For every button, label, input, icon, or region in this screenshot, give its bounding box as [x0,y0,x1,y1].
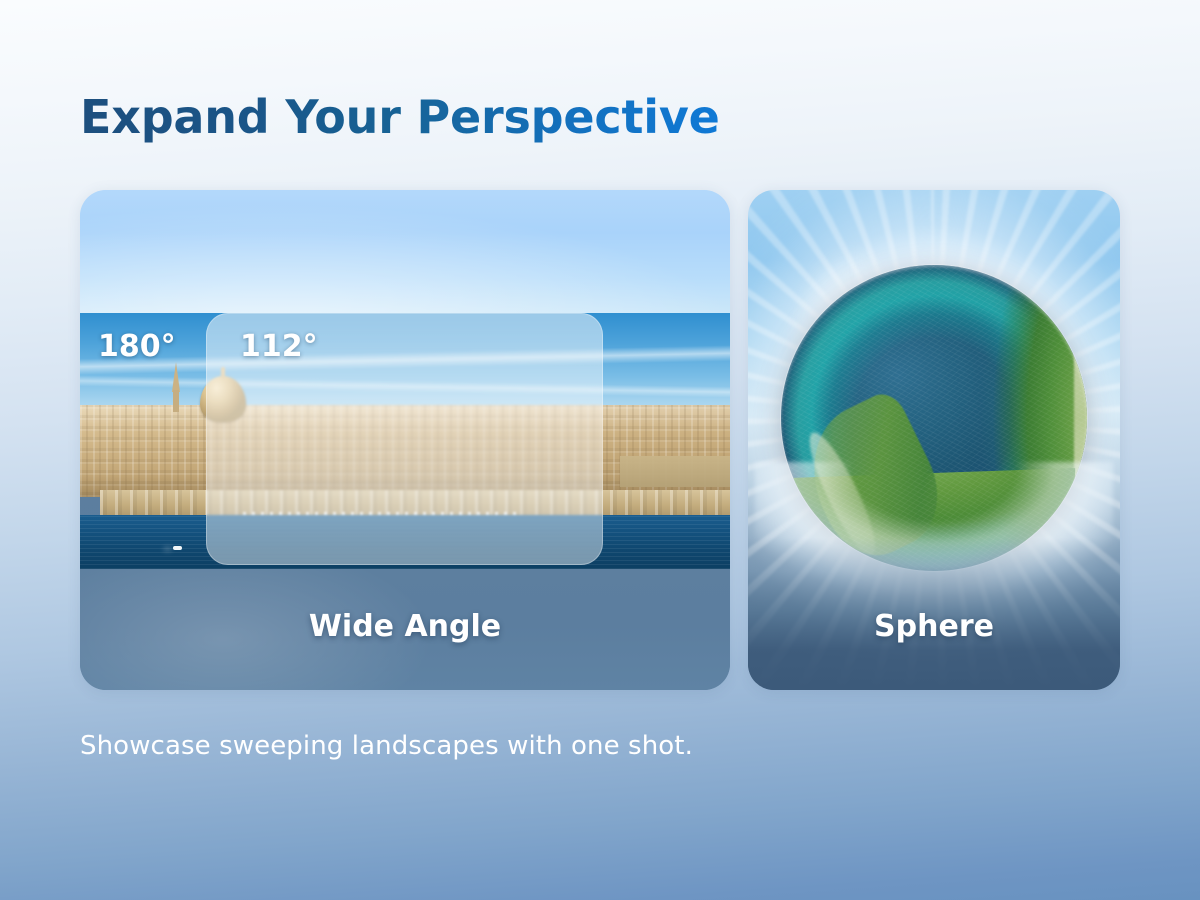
panorama-far-shore [620,456,731,487]
card-sky-backdrop [80,190,730,313]
slide-caption: Showcase sweeping landscapes with one sh… [80,731,980,761]
card-sphere[interactable]: Sphere [748,190,1120,690]
panorama-boat [173,546,182,550]
church-spire [172,362,180,392]
card-wide-angle[interactable]: 180° 112° Wide Angle [80,190,730,690]
card-label-wide-angle: Wide Angle [80,609,730,644]
perspective-card-row: 180° 112° Wide Angle Sphere [80,190,1120,690]
badge-fov-180: 180° [98,329,176,364]
card-label-sphere: Sphere [748,609,1120,644]
badge-fov-112: 112° [240,329,318,364]
page-title: Expand Your Perspective [80,92,840,144]
slide-canvas: Expand Your Perspective 180° [0,0,1200,900]
